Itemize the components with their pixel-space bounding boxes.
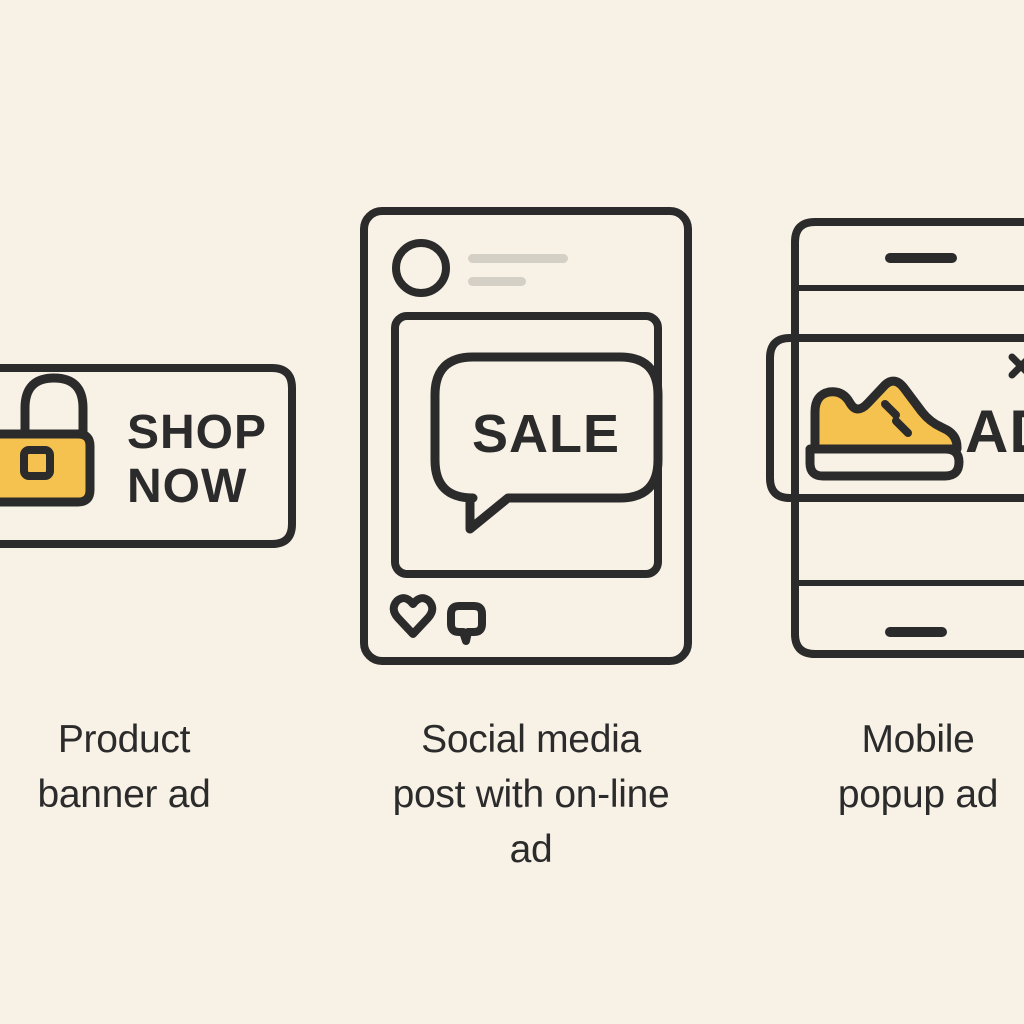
sneaker-icon [810,381,959,476]
sneaker-sole [810,449,959,476]
sale-label: SALE [472,404,620,464]
handbag-handle [25,378,83,434]
comment-bubble-icon [451,606,482,641]
handbag-body [0,434,90,502]
username-placeholder-line [468,254,568,263]
social-media-post-graphic: SALE [364,211,688,661]
caption-product-banner-ad: Product banner ad [10,712,238,822]
diagram-canvas: SHOP NOW SALE [0,0,1024,1024]
handbag-icon [0,378,90,502]
subtitle-placeholder-line [468,277,526,286]
mobile-popup-ad-graphic: AD [770,222,1024,654]
ad-label: AD [965,398,1024,465]
avatar-circle-icon [396,243,446,293]
product-banner-ad-graphic: SHOP NOW [0,368,292,544]
caption-mobile-popup-ad: Mobile popup ad [800,712,1024,822]
shop-now-line1: SHOP [127,406,267,459]
close-x-icon [1012,357,1024,375]
phone-home-bar-icon [885,627,947,637]
phone-speaker-icon [885,253,957,263]
sneaker-upper [815,381,957,449]
heart-icon [394,598,433,634]
shop-now-line2: NOW [127,460,247,513]
caption-social-media-post: Social media post with on-line ad [352,712,710,877]
